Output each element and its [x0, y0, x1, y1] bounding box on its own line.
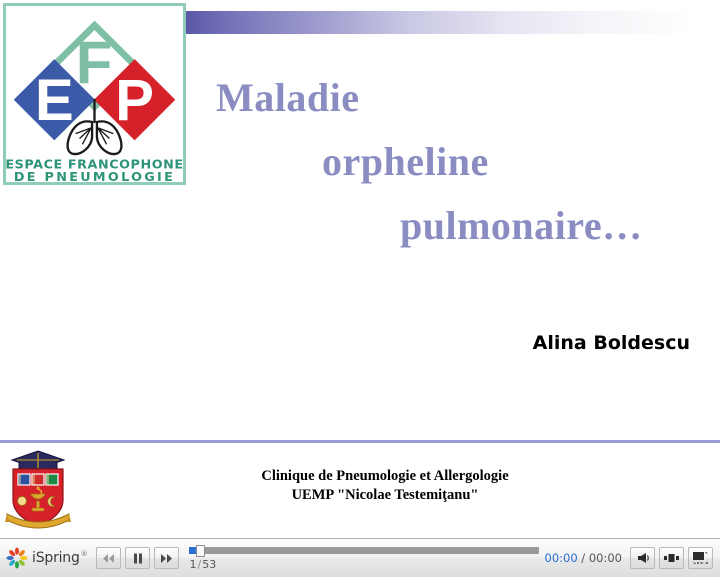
ispring-wordmark: iSpring®	[32, 550, 87, 566]
forward-button[interactable]	[154, 547, 179, 569]
player-toolbar: iSpring®	[0, 538, 720, 577]
playback-controls	[96, 547, 179, 569]
volume-button[interactable]	[630, 547, 655, 569]
seek-slider[interactable]	[189, 547, 538, 554]
ispring-logo-icon	[6, 547, 28, 569]
slide-counter: 1/53	[189, 558, 544, 571]
slide-current: 1	[189, 558, 196, 571]
rewind-icon	[102, 553, 115, 564]
volume-icon	[636, 552, 650, 564]
title-line-3: pulmonaire…	[0, 194, 720, 258]
slide-title: Maladie orpheline pulmonaire…	[0, 66, 720, 258]
institution-footer: Clinique de Pneumologie et Allergologie …	[130, 467, 640, 505]
slide-total: 53	[202, 558, 216, 571]
institution-line-2: UEMP "Nicolae Testemiţanu"	[130, 486, 640, 505]
rewind-button[interactable]	[96, 547, 121, 569]
footer-divider	[0, 440, 720, 443]
fullscreen-icon	[693, 552, 708, 564]
layout-button[interactable]	[659, 547, 684, 569]
pause-button[interactable]	[125, 547, 150, 569]
author-name: Alina Boldescu	[0, 332, 690, 354]
seek-handle[interactable]	[196, 545, 205, 557]
time-separator: /	[578, 551, 589, 565]
ispring-presentation-player: F E P ESPACE FRANCOPHONE DE PNEUMOLOGIE	[0, 0, 720, 577]
ispring-branding: iSpring®	[6, 539, 87, 577]
pause-icon	[133, 553, 143, 564]
title-line-1: Maladie	[0, 66, 720, 130]
institution-line-1: Clinique de Pneumologie et Allergologie	[130, 467, 640, 486]
registered-mark: ®	[81, 550, 88, 558]
header-gradient-band	[186, 11, 720, 34]
forward-icon	[160, 553, 173, 564]
player-right-controls	[630, 547, 713, 569]
university-crest-icon	[5, 448, 71, 534]
layout-icon	[664, 554, 679, 562]
fullscreen-button[interactable]	[688, 547, 713, 569]
time-current: 00:00	[545, 551, 578, 565]
time-readout: 00:00 / 00:00	[545, 551, 623, 565]
seek-area: 1/53	[189, 539, 544, 577]
time-total: 00:00	[589, 551, 622, 565]
title-line-2: orpheline	[0, 130, 720, 194]
slide-canvas: F E P ESPACE FRANCOPHONE DE PNEUMOLOGIE	[0, 0, 720, 538]
slide-separator: /	[197, 558, 201, 571]
